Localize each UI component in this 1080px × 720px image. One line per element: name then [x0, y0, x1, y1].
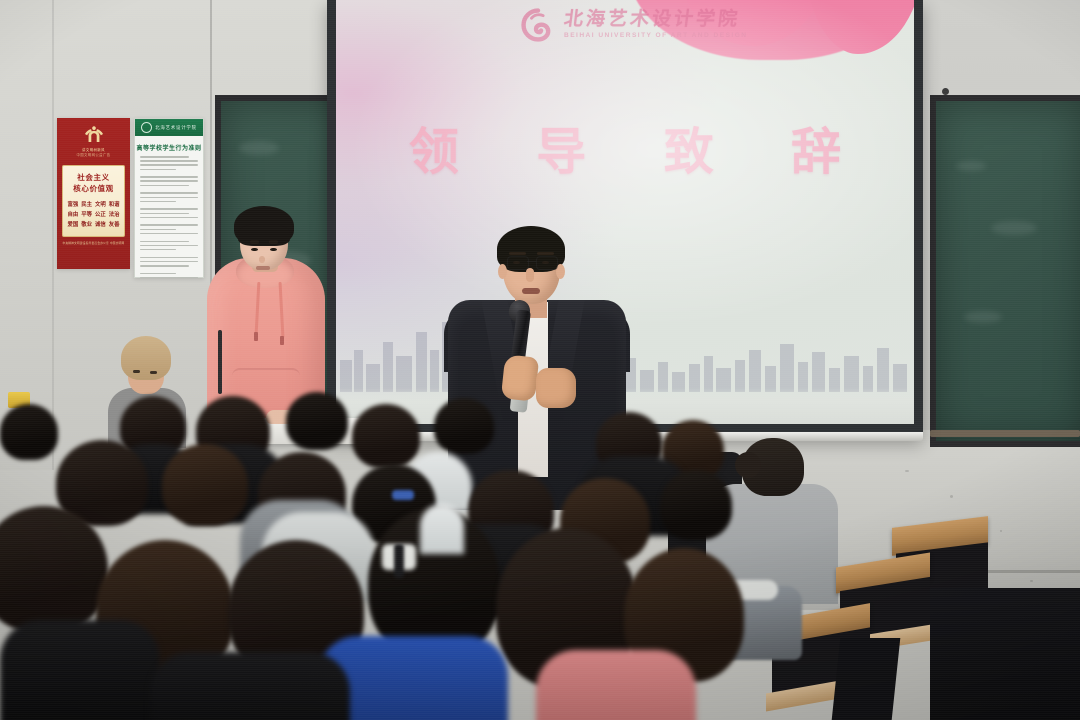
logo-text-block: 北海艺术设计学院 BEIHAI UNIVERSITY OF ART AND DE…	[564, 10, 748, 40]
chalk-smudge	[239, 141, 279, 155]
audience-head	[162, 444, 248, 526]
university-logo: 北海艺术设计学院 BEIHAI UNIVERSITY OF ART AND DE…	[521, 8, 748, 42]
poster-emblem-subcaption: 中国文明网公益广告	[57, 153, 130, 158]
poster-emblem-icon	[81, 125, 107, 147]
ear	[498, 264, 507, 279]
value-item: 民主	[81, 200, 92, 210]
chalk-smudge	[964, 311, 1002, 323]
value-item: 法治	[109, 210, 120, 220]
drawstring-tip	[280, 336, 284, 345]
classroom-photo-scene: 北海艺术设计学院 BEIHAI UNIVERSITY OF ART AND DE…	[0, 0, 1080, 720]
poster-header-band: 北海艺术设计学院	[135, 119, 203, 136]
chalk-tray	[930, 430, 1080, 437]
microphone-stand	[218, 330, 222, 394]
wall-mark	[905, 470, 909, 472]
board-mount-screw	[942, 88, 949, 95]
value-item: 平等	[81, 210, 92, 220]
swirl-emblem-icon	[521, 8, 555, 42]
value-item: 敬业	[81, 220, 92, 230]
chalk-smudge	[956, 161, 986, 171]
student-hair-blonde	[121, 336, 171, 380]
hair-tie	[392, 490, 414, 500]
eye	[150, 371, 157, 374]
value-item: 自由	[67, 210, 78, 220]
values-row: 爱国 敬业 诚信 友善	[66, 220, 121, 230]
hair-bun	[735, 452, 761, 478]
eyebrow	[509, 252, 526, 255]
chair-row-shadow	[930, 588, 1080, 720]
value-item: 文明	[95, 200, 106, 210]
value-item: 公正	[95, 210, 106, 220]
audience-torso-white	[420, 504, 464, 554]
poster-footer: 中央精神文明建设指导委员会办公室 中国文明网	[57, 241, 130, 245]
poster-heading-line2: 核心价值观	[66, 184, 121, 195]
logo-institution-en: BEIHAI UNIVERSITY OF ART AND DESIGN	[564, 33, 748, 40]
eyebrow	[250, 240, 259, 244]
audience-head	[352, 404, 420, 468]
poster-heading-line1: 社会主义	[66, 173, 121, 184]
audience-head	[286, 392, 348, 450]
handheld-device	[394, 544, 404, 578]
nose	[526, 268, 534, 282]
speaker-hand	[536, 368, 576, 408]
value-item: 和谐	[109, 200, 120, 210]
chair-row-shadow	[832, 638, 901, 720]
value-item: 友善	[109, 220, 120, 230]
wall-mark	[1000, 530, 1002, 532]
mouth-speaking	[522, 288, 540, 294]
poster-values-card: 社会主义 核心价值观 富强 民主 文明 和谐 自由 平等 公正 法治 爱国 敬业	[62, 165, 125, 238]
poster-body-text	[135, 156, 203, 278]
value-item: 爱国	[67, 220, 78, 230]
value-item: 诚信	[95, 220, 106, 230]
chalkboard-right	[930, 95, 1080, 447]
mouth	[256, 266, 270, 270]
values-row: 自由 平等 公正 法治	[66, 210, 121, 220]
value-item: 富强	[67, 200, 78, 210]
speaker-hand-holding-mic	[501, 354, 539, 401]
wall-seam	[52, 0, 54, 470]
eyebrow	[537, 252, 554, 255]
poster-socialist-core-values: 讲文明树新风 中国文明网公益广告 社会主义 核心价值观 富强 民主 文明 和谐 …	[57, 118, 130, 269]
wall-mark	[1030, 580, 1033, 582]
chalk-smudge	[991, 221, 1037, 235]
nose	[259, 256, 265, 263]
audience-torso	[0, 620, 160, 720]
drawstring-tip	[254, 332, 258, 341]
audience-torso-pink	[536, 650, 696, 720]
audience-torso	[150, 652, 350, 720]
student-hair	[234, 206, 294, 246]
audience-head	[0, 404, 58, 460]
slide-title: 领 导 致 辞	[336, 112, 914, 184]
wall-mark	[950, 495, 953, 498]
poster-title: 高等学校学生行为准则	[135, 143, 203, 152]
poster-band-institution: 北海艺术设计学院	[155, 125, 197, 131]
values-row: 富强 民主 文明 和谐	[66, 200, 121, 210]
eyebrow	[269, 240, 278, 244]
poster-values-list: 富强 民主 文明 和谐 自由 平等 公正 法治 爱国 敬业 诚信 友善	[66, 200, 121, 231]
audience-head	[660, 470, 732, 540]
eye	[133, 370, 140, 373]
logo-institution-cn: 北海艺术设计学院	[563, 10, 749, 29]
poster-student-code-of-conduct: 北海艺术设计学院 高等学校学生行为准则	[134, 118, 204, 278]
swirl-emblem-icon	[141, 122, 152, 133]
eyeglass-bridge-icon	[527, 261, 536, 262]
audience-head	[434, 398, 494, 454]
